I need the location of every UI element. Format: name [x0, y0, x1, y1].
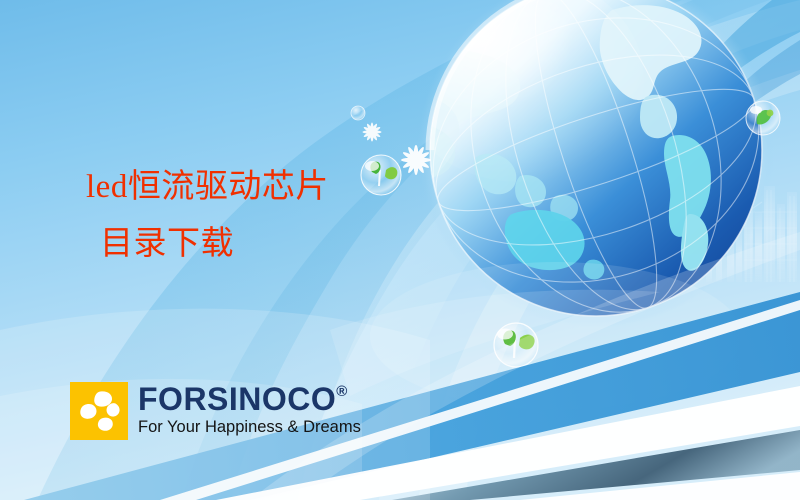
logo-wordmark: FORSINOCO ® — [138, 382, 348, 416]
flower-sparkle-small — [363, 123, 382, 142]
logo-tagline: For Your Happiness & Dreams — [138, 417, 361, 437]
headline-line-2: 目录下载 — [86, 223, 426, 266]
bubble-small-top-right — [746, 101, 780, 135]
four-petal-flower-icon — [70, 382, 128, 440]
logo-wordmark-text: FORSINOCO — [138, 382, 336, 416]
logo-text-block: FORSINOCO ® For Your Happiness & Dreams — [138, 382, 361, 437]
city-skyline — [640, 186, 797, 282]
registered-trademark-icon: ® — [336, 384, 348, 399]
earth-globe — [366, 0, 794, 345]
headline-line-1: led恒流驱动芯片 — [86, 166, 426, 209]
headline-block: led恒流驱动芯片 目录下载 — [86, 166, 426, 266]
diagonal-light-bands — [24, 232, 800, 500]
bubble-with-seedling-lower — [494, 323, 538, 367]
promo-banner: led恒流驱动芯片 目录下载 FORSINOCO ® For Your Happ… — [0, 0, 800, 500]
bubble-tiny-upper — [351, 106, 365, 120]
brand-logo[interactable]: FORSINOCO ® For Your Happiness & Dreams — [70, 382, 361, 440]
